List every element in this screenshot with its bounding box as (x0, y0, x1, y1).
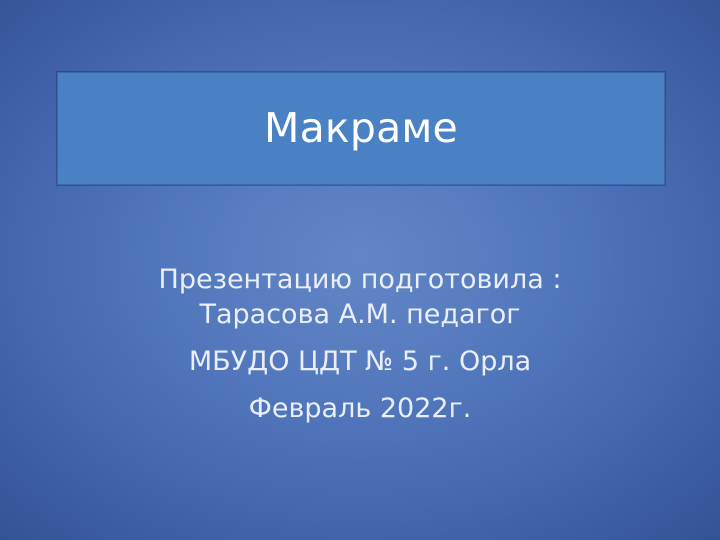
body-line-date: Февраль 2022г. (90, 391, 630, 426)
body-line-author-name: Тарасова А.М. педагог (90, 297, 630, 332)
body-line-prepared-by: Презентацию подготовила : (90, 262, 630, 297)
title-placeholder-box[interactable]: Макраме (57, 72, 665, 185)
slide-title: Макраме (264, 106, 458, 151)
body-placeholder-box[interactable]: Презентацию подготовила : Тарасова А.М. … (90, 262, 630, 426)
body-paragraph-date: Февраль 2022г. (90, 391, 630, 426)
body-paragraph-organization: МБУДО ЦДТ № 5 г. Орла (90, 344, 630, 379)
body-line-organization: МБУДО ЦДТ № 5 г. Орла (90, 344, 630, 379)
body-paragraph-author: Презентацию подготовила : Тарасова А.М. … (90, 262, 630, 332)
presentation-slide: Макраме Презентацию подготовила : Тарасо… (0, 0, 720, 540)
